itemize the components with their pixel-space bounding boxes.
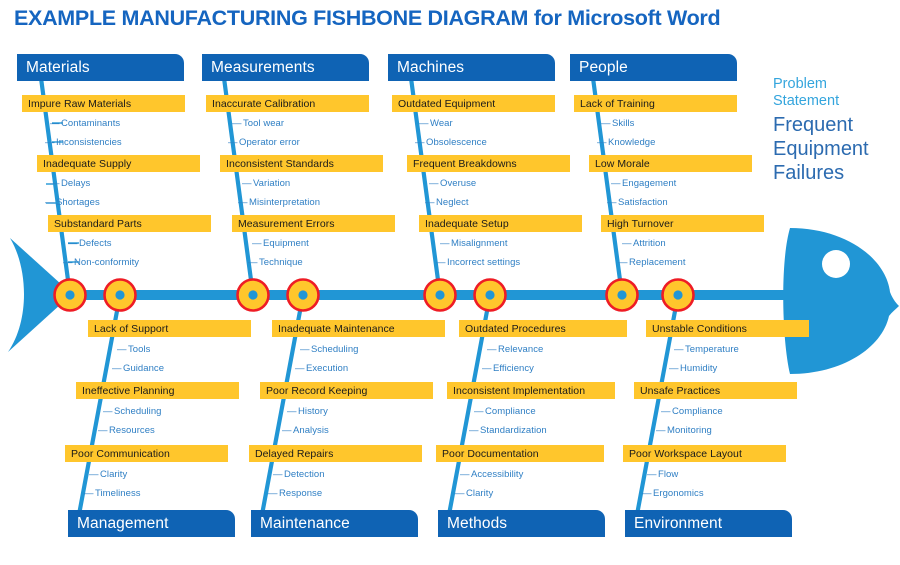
sub-dash-icon: —: [282, 425, 293, 436]
cause-box[interactable]: Inadequate Supply: [37, 155, 200, 172]
sub-cause: —Replacement: [618, 257, 686, 268]
sub-cause: —Timeliness: [84, 488, 141, 499]
sub-cause: —Clarity: [89, 469, 127, 480]
sub-cause: —Relevance: [487, 344, 543, 355]
sub-dash-icon: —: [607, 197, 618, 208]
sub-dash-icon: —: [425, 197, 436, 208]
cause-label: Outdated Procedures: [465, 323, 566, 335]
sub-cause: —Efficiency: [482, 363, 534, 374]
problem-statement-label: Problem Statement: [773, 76, 898, 110]
problem-label-line1: Problem: [773, 76, 898, 93]
sub-cause: —Skills: [601, 118, 634, 129]
sub-dash-icon: —: [268, 488, 279, 499]
sub-dash-icon: —: [242, 178, 253, 189]
joint-machines: [425, 280, 456, 311]
sub-cause: —Satisfaction: [607, 197, 668, 208]
sub-dash-icon: —: [228, 137, 239, 148]
sub-dash-icon: —: [252, 238, 263, 249]
sub-dash-icon: —: [469, 425, 480, 436]
category-label: Management: [77, 515, 168, 533]
sub-cause: —Flow: [647, 469, 678, 480]
category-header-people[interactable]: People: [570, 54, 737, 81]
sub-dash-icon: —: [98, 425, 109, 436]
sub-cause: —Tools: [117, 344, 150, 355]
cause-label: Measurement Errors: [238, 218, 335, 230]
cause-label: Inadequate Setup: [425, 218, 509, 230]
joint-management: [105, 280, 136, 311]
sub-cause: —Misinterpretation: [238, 197, 320, 208]
cause-label: Inaccurate Calibration: [212, 98, 315, 110]
cause-box[interactable]: Low Morale: [589, 155, 752, 172]
category-header-maintenance[interactable]: Maintenance: [251, 510, 418, 537]
cause-label: Frequent Breakdowns: [413, 158, 517, 170]
sub-cause: —Inconsistencies: [45, 137, 122, 148]
cause-box[interactable]: Poor Workspace Layout: [623, 445, 786, 462]
category-header-measurements[interactable]: Measurements: [202, 54, 369, 81]
sub-dash-icon: —: [601, 118, 612, 129]
cause-box[interactable]: Unsafe Practices: [634, 382, 797, 399]
cause-box[interactable]: Inconsistent Standards: [220, 155, 383, 172]
cause-box[interactable]: Lack of Training: [574, 95, 737, 112]
sub-cause: —Analysis: [282, 425, 329, 436]
fish-eye-icon: [822, 250, 850, 278]
problem-label-line2: Statement: [773, 93, 898, 110]
sub-cause: —Incorrect settings: [436, 257, 520, 268]
sub-cause: —Operator error: [228, 137, 300, 148]
sub-cause: —Equipment: [252, 238, 309, 249]
sub-cause: —Defects: [68, 238, 112, 249]
category-header-methods[interactable]: Methods: [438, 510, 605, 537]
sub-cause: —Delays: [50, 178, 90, 189]
sub-dash-icon: —: [669, 363, 680, 374]
sub-cause: —Execution: [295, 363, 348, 374]
sub-cause: —Clarity: [455, 488, 493, 499]
sub-cause: —Engagement: [611, 178, 676, 189]
cause-box[interactable]: Outdated Procedures: [459, 320, 627, 337]
cause-box[interactable]: Unstable Conditions: [646, 320, 809, 337]
sub-dash-icon: —: [50, 178, 61, 189]
cause-label: Unsafe Practices: [640, 385, 720, 397]
cause-box[interactable]: Inaccurate Calibration: [206, 95, 369, 112]
sub-cause: —Neglect: [425, 197, 469, 208]
cause-label: Impure Raw Materials: [28, 98, 131, 110]
cause-box[interactable]: Inadequate Setup: [419, 215, 582, 232]
cause-label: Poor Record Keeping: [266, 385, 367, 397]
sub-cause: —Response: [268, 488, 322, 499]
sub-dash-icon: —: [656, 425, 667, 436]
cause-box[interactable]: Poor Communication: [65, 445, 228, 462]
fish-skeleton-graphic: [0, 0, 900, 565]
cause-label: Low Morale: [595, 158, 650, 170]
problem-text-line3: Failures: [773, 161, 900, 185]
cause-box[interactable]: Impure Raw Materials: [22, 95, 185, 112]
cause-box[interactable]: Measurement Errors: [232, 215, 395, 232]
cause-label: Poor Documentation: [442, 448, 539, 460]
cause-box[interactable]: Inconsistent Implementation: [447, 382, 615, 399]
joint-materials: [55, 280, 86, 311]
sub-dash-icon: —: [642, 488, 653, 499]
cause-label: Lack of Support: [94, 323, 168, 335]
sub-dash-icon: —: [84, 488, 95, 499]
sub-dash-icon: —: [415, 137, 426, 148]
sub-cause: —Tool wear: [232, 118, 284, 129]
fish-head-icon: [783, 228, 899, 374]
sub-cause: —Shortages: [45, 197, 100, 208]
category-label: Methods: [447, 515, 507, 533]
cause-box[interactable]: Substandard Parts: [48, 215, 211, 232]
sub-dash-icon: —: [440, 238, 451, 249]
sub-dash-icon: —: [597, 137, 608, 148]
problem-statement-text: Frequent Equipment Failures: [773, 113, 900, 185]
sub-cause: —Ergonomics: [642, 488, 704, 499]
joint-measurements: [238, 280, 269, 311]
sub-cause: —Variation: [242, 178, 290, 189]
cause-box[interactable]: Poor Documentation: [436, 445, 604, 462]
sub-dash-icon: —: [117, 344, 128, 355]
cause-label: Outdated Equipment: [398, 98, 495, 110]
sub-cause: —Temperature: [674, 344, 739, 355]
category-label: Environment: [634, 515, 722, 533]
sub-cause: —Compliance: [661, 406, 723, 417]
sub-dash-icon: —: [661, 406, 672, 417]
sub-dash-icon: —: [482, 363, 493, 374]
cause-label: Substandard Parts: [54, 218, 142, 230]
sub-cause: —Contaminants: [50, 118, 120, 129]
sub-cause: —Scheduling: [103, 406, 162, 417]
sub-cause: —Accessibility: [460, 469, 523, 480]
problem-text-line2: Equipment: [773, 137, 900, 161]
category-label: Materials: [26, 59, 90, 77]
cause-label: Poor Communication: [71, 448, 170, 460]
sub-cause: —Standardization: [469, 425, 547, 436]
cause-box[interactable]: Poor Record Keeping: [260, 382, 433, 399]
cause-label: Delayed Repairs: [255, 448, 333, 460]
category-label: Machines: [397, 59, 464, 77]
sub-dash-icon: —: [68, 238, 79, 249]
sub-cause: —Overuse: [429, 178, 476, 189]
cause-label: Lack of Training: [580, 98, 655, 110]
category-label: Maintenance: [260, 515, 350, 533]
sub-dash-icon: —: [429, 178, 440, 189]
sub-cause: —Monitoring: [656, 425, 712, 436]
cause-box[interactable]: Outdated Equipment: [392, 95, 555, 112]
category-header-management[interactable]: Management: [68, 510, 235, 537]
joint-methods: [475, 280, 506, 311]
sub-dash-icon: —: [611, 178, 622, 189]
sub-dash-icon: —: [460, 469, 471, 480]
cause-label: High Turnover: [607, 218, 674, 230]
sub-dash-icon: —: [622, 238, 633, 249]
cause-box[interactable]: Lack of Support: [88, 320, 251, 337]
cause-box[interactable]: Inadequate Maintenance: [272, 320, 445, 337]
sub-dash-icon: —: [238, 197, 249, 208]
sub-cause: —Resources: [98, 425, 155, 436]
sub-dash-icon: —: [436, 257, 447, 268]
joint-environment: [663, 280, 694, 311]
cause-label: Inadequate Supply: [43, 158, 131, 170]
category-label: People: [579, 59, 628, 77]
cause-box[interactable]: Delayed Repairs: [249, 445, 422, 462]
category-label: Measurements: [211, 59, 315, 77]
sub-dash-icon: —: [45, 197, 56, 208]
sub-dash-icon: —: [419, 118, 430, 129]
sub-cause: —Scheduling: [300, 344, 359, 355]
sub-dash-icon: —: [103, 406, 114, 417]
cause-label: Inadequate Maintenance: [278, 323, 395, 335]
sub-dash-icon: —: [112, 363, 123, 374]
cause-box[interactable]: Frequent Breakdowns: [407, 155, 570, 172]
sub-dash-icon: —: [300, 344, 311, 355]
sub-cause: —Attrition: [622, 238, 666, 249]
cause-label: Unstable Conditions: [652, 323, 747, 335]
sub-dash-icon: —: [63, 257, 74, 268]
sub-dash-icon: —: [89, 469, 100, 480]
cause-label: Inconsistent Implementation: [453, 385, 585, 397]
sub-cause: —Obsolescence: [415, 137, 487, 148]
sub-dash-icon: —: [273, 469, 284, 480]
sub-dash-icon: —: [45, 137, 56, 148]
category-header-machines[interactable]: Machines: [388, 54, 555, 81]
sub-dash-icon: —: [287, 406, 298, 417]
fishbone-diagram-canvas: EXAMPLE MANUFACTURING FISHBONE DIAGRAM f…: [0, 0, 900, 565]
sub-dash-icon: —: [474, 406, 485, 417]
joint-maintenance: [288, 280, 319, 311]
sub-dash-icon: —: [487, 344, 498, 355]
sub-dash-icon: —: [455, 488, 466, 499]
sub-cause: —Knowledge: [597, 137, 655, 148]
joint-people: [607, 280, 638, 311]
cause-box[interactable]: High Turnover: [601, 215, 764, 232]
sub-dash-icon: —: [248, 257, 259, 268]
sub-dash-icon: —: [618, 257, 629, 268]
sub-cause: —Wear: [419, 118, 453, 129]
sub-dash-icon: —: [674, 344, 685, 355]
cause-label: Ineffective Planning: [82, 385, 174, 397]
problem-text-line1: Frequent: [773, 113, 900, 137]
sub-cause: —Detection: [273, 469, 325, 480]
cause-label: Poor Workspace Layout: [629, 448, 742, 460]
sub-dash-icon: —: [647, 469, 658, 480]
sub-cause: —Non-conformity: [63, 257, 139, 268]
sub-dash-icon: —: [50, 118, 61, 129]
sub-cause: —Compliance: [474, 406, 536, 417]
cause-box[interactable]: Ineffective Planning: [76, 382, 239, 399]
sub-cause: —History: [287, 406, 328, 417]
sub-cause: —Guidance: [112, 363, 164, 374]
category-header-environment[interactable]: Environment: [625, 510, 792, 537]
sub-dash-icon: —: [295, 363, 306, 374]
sub-cause: —Humidity: [669, 363, 717, 374]
cause-label: Inconsistent Standards: [226, 158, 334, 170]
sub-cause: —Technique: [248, 257, 303, 268]
sub-dash-icon: —: [232, 118, 243, 129]
category-header-materials[interactable]: Materials: [17, 54, 184, 81]
sub-cause: —Misalignment: [440, 238, 508, 249]
